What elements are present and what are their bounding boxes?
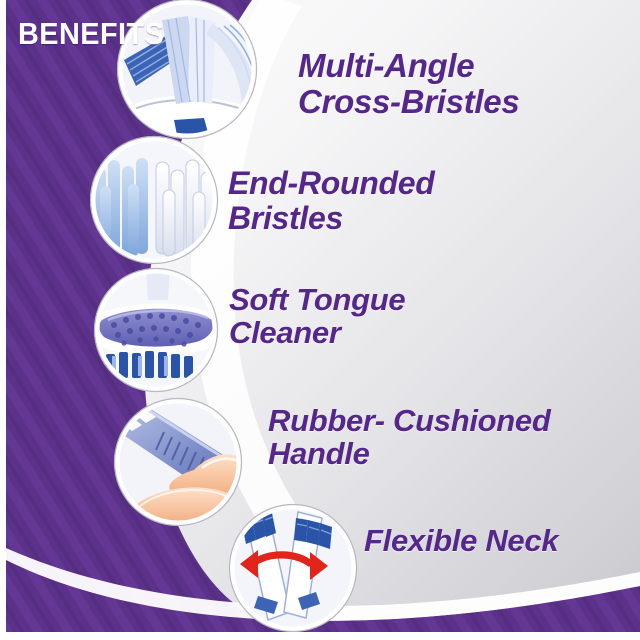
artwork-panel: BENEFITS Multi-Angle Cross-Bristles End-… <box>6 0 640 632</box>
benefit-label-flexible-neck: Flexible Neck <box>364 524 558 557</box>
page-title: BENEFITS <box>18 18 164 49</box>
benefit-label-multi-angle-cross-bristles: Multi-Angle Cross-Bristles <box>298 48 519 119</box>
benefit-icon-rounded-bristle-tips <box>90 136 218 264</box>
benefit-label-end-rounded-bristles: End-Rounded Bristles <box>228 166 434 235</box>
benefit-icon-flexing-neck-arrow <box>229 504 357 632</box>
benefit-label-soft-tongue-cleaner: Soft Tongue Cleaner <box>229 283 405 350</box>
benefits-infographic: BENEFITS Multi-Angle Cross-Bristles End-… <box>0 0 640 640</box>
benefit-label-rubber-cushioned-handle: Rubber- Cushioned Handle <box>268 404 551 471</box>
